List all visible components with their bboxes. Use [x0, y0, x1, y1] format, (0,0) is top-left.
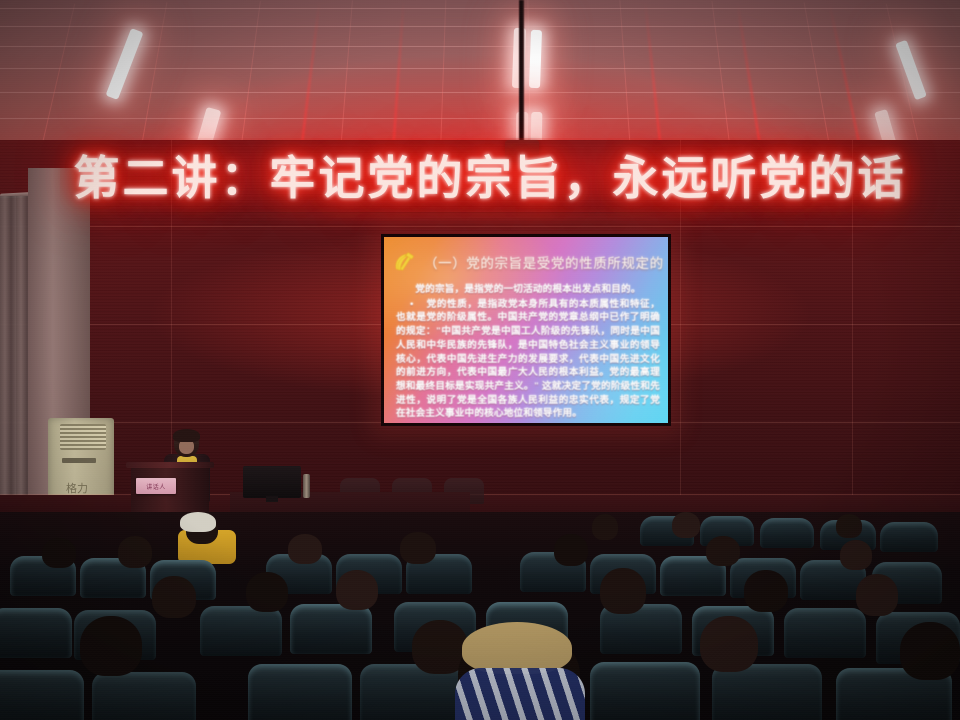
attendee-head: [840, 540, 872, 570]
podium-top: [126, 462, 214, 468]
attendee-head: [288, 534, 322, 564]
air-conditioner-display-panel: [62, 458, 96, 463]
monitor-stand: [266, 496, 278, 502]
podium-name-card-text: 讲话人: [146, 482, 166, 491]
attendee-head: [836, 514, 862, 538]
slide-body-text: • 党的性质，是指政党本身所具有的本质属性和特征，也就是党的阶级属性。中国共产党…: [396, 298, 660, 421]
attendee-head: [600, 568, 646, 614]
seat: [248, 664, 352, 720]
attendee-head: [706, 536, 740, 566]
led-banner-text: 第二讲：牢记党的宗旨，永远听党的话: [74, 142, 907, 208]
attendee-head: [856, 574, 898, 616]
seat: [880, 522, 938, 552]
seat: [712, 664, 822, 720]
projector-mount-pole: [519, 0, 524, 148]
seat: [760, 518, 814, 548]
attendee-head: [246, 572, 288, 612]
ceiling-light-4: [529, 30, 542, 88]
air-conditioner-vent-icon: [60, 424, 106, 450]
slide-body: 党的宗旨，是指党的一切活动的根本出发点和目的。 • 党的性质，是指政党本身所具有…: [396, 283, 660, 421]
lecture-hall-photo: 格力 第二讲：牢记党的宗旨，永远听党的话 （一）党的宗旨是受党的性质所规定的: [0, 0, 960, 720]
attendee-head: [744, 570, 788, 612]
attendee-head: [554, 534, 588, 566]
speaker-hair: [173, 429, 200, 442]
attendee-head: [42, 538, 76, 568]
podium-name-card: 讲话人: [136, 478, 176, 494]
water-bottle: [303, 474, 310, 498]
striped-shirt-attendee: [455, 668, 585, 720]
tan-cap-icon: [462, 622, 572, 674]
attendee-head: [336, 570, 378, 610]
white-cap-icon: [180, 512, 216, 532]
attendee-head: [592, 514, 618, 540]
seat: [0, 608, 72, 658]
hammer-and-sickle-icon: [392, 250, 418, 274]
seat: [0, 670, 84, 720]
seat: [92, 672, 196, 720]
seat: [290, 604, 372, 654]
attendee-head: [118, 536, 152, 568]
seat: [200, 606, 282, 656]
presentation-slide: （一）党的宗旨是受党的性质所规定的 党的宗旨，是指党的一切活动的根本出发点和目的…: [384, 237, 668, 423]
attendee-head: [700, 616, 758, 672]
attendee-head: [900, 622, 960, 680]
led-banner: 第二讲：牢记党的宗旨，永远听党的话: [60, 138, 920, 212]
ceiling: [0, 0, 960, 152]
seat: [590, 662, 700, 720]
attendee-head: [152, 576, 196, 618]
attendee-head: [400, 532, 436, 564]
projection-screen: （一）党的宗旨是受党的性质所规定的 党的宗旨，是指党的一切活动的根本出发点和目的…: [381, 234, 671, 426]
slide-header: （一）党的宗旨是受党的性质所规定的: [392, 246, 662, 278]
attendee-head: [80, 616, 142, 676]
slide-title: （一）党的宗旨是受党的性质所规定的: [424, 252, 664, 272]
presentation-monitor: [243, 466, 301, 498]
attendee-head: [672, 512, 700, 538]
slide-lead-line: 党的宗旨，是指党的一切活动的根本出发点和目的。: [396, 283, 660, 297]
seat: [784, 608, 866, 658]
ceiling-tile-grid: [0, 0, 960, 152]
